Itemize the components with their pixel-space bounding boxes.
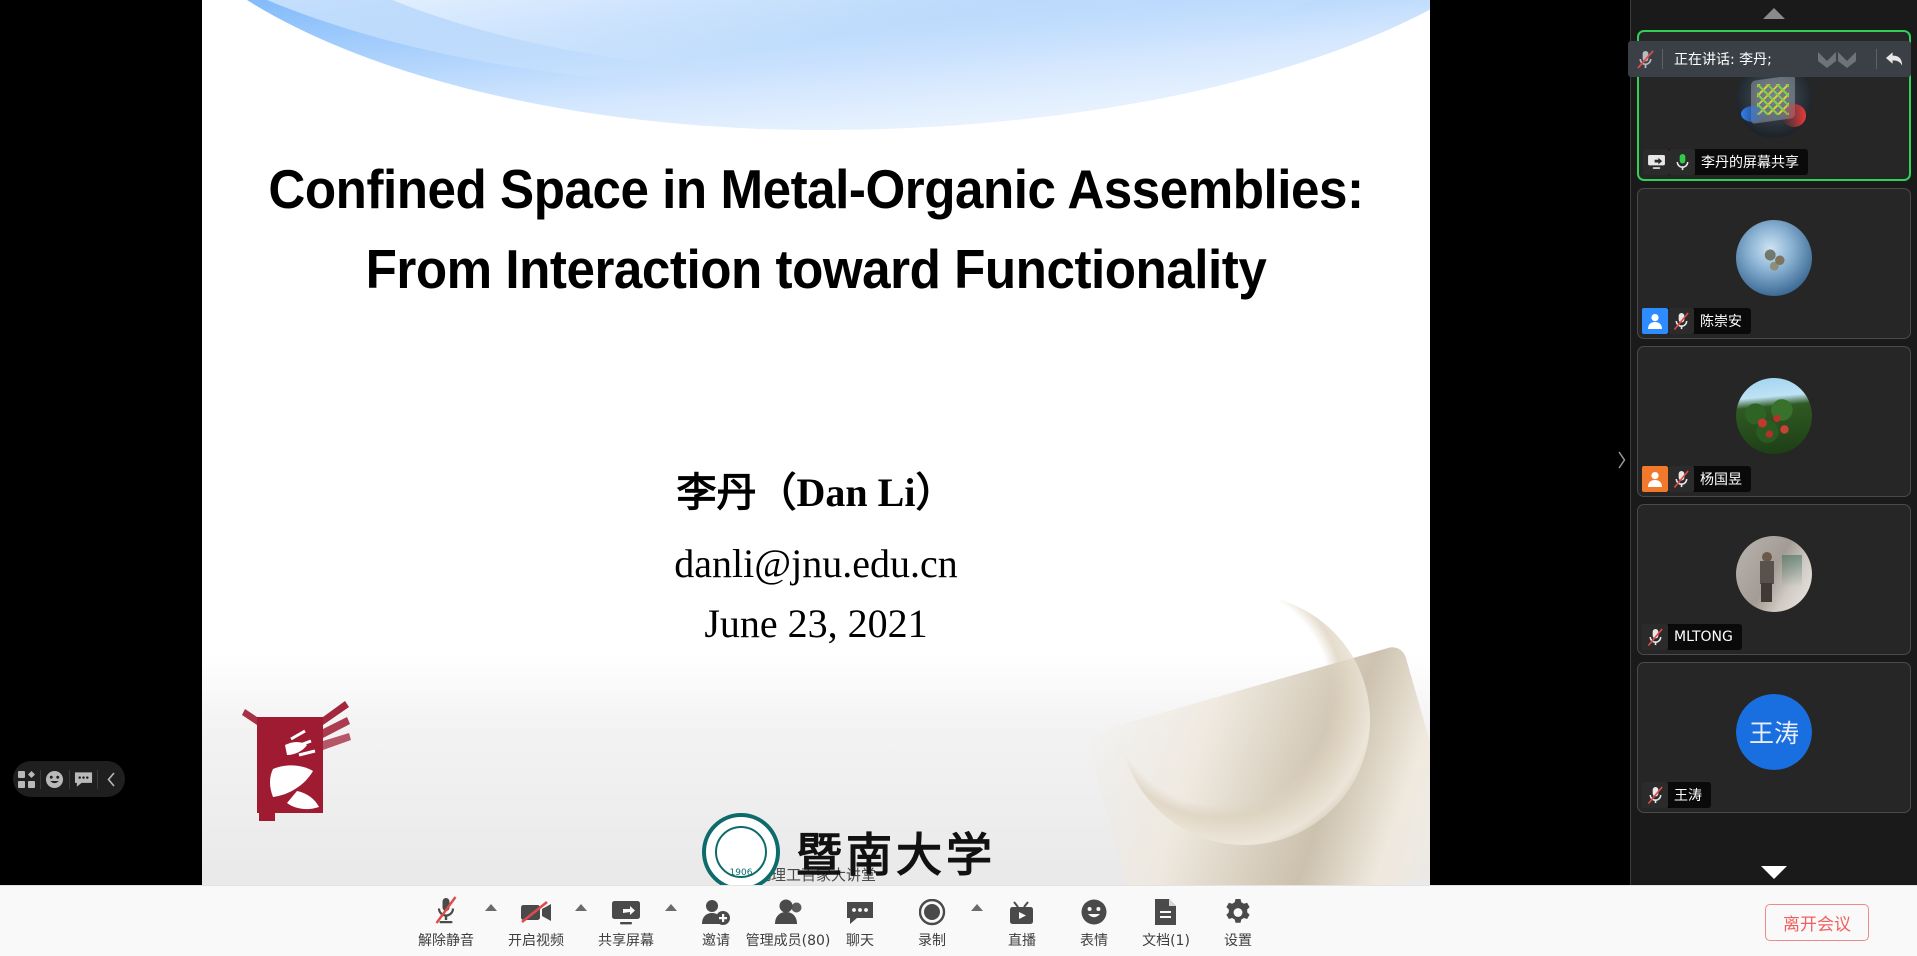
meeting-toolbar: 解除静音 开启视频 共享屏幕 xyxy=(0,885,1917,956)
participant-name: 王涛 xyxy=(1674,785,1702,805)
screen-share-icon xyxy=(612,892,641,926)
triangle-up-icon[interactable] xyxy=(1631,0,1917,26)
chevron-left-icon[interactable] xyxy=(98,761,125,797)
active-speaker-text: 正在讲话: 李丹; xyxy=(1674,49,1816,69)
jnu-seal-icon: 1906 xyxy=(702,813,780,885)
participant-thumbnail[interactable]: 陈崇安 xyxy=(1637,188,1911,339)
mic-muted-icon xyxy=(1628,49,1662,70)
avatar: 王涛 xyxy=(1736,694,1812,770)
caret-up-icon[interactable] xyxy=(572,886,590,950)
participants-icon xyxy=(774,892,802,926)
gear-icon xyxy=(1224,892,1252,926)
active-speaker-banner: 正在讲话: 李丹; xyxy=(1628,41,1911,77)
record-icon xyxy=(919,892,946,926)
participant-panel: 李丹的屏幕共享 陈崇安 xyxy=(1630,0,1917,885)
participant-nametag: 杨国昱 xyxy=(1642,466,1751,492)
participant-nametag: 陈崇安 xyxy=(1642,308,1751,334)
document-icon xyxy=(1155,892,1177,926)
presentation-slide: Confined Space in Metal-Organic Assembli… xyxy=(202,0,1430,885)
jnu-seal-year: 1906 xyxy=(706,868,776,878)
toolbar-button-label: 管理成员(80) xyxy=(746,930,831,950)
zoom-meeting-window: Confined Space in Metal-Organic Assembli… xyxy=(0,0,1917,956)
toolbar-button-label: 直播 xyxy=(1008,930,1036,950)
toolbar-button-label: 设置 xyxy=(1224,930,1252,950)
toolbar-button-label: 开启视频 xyxy=(508,930,564,950)
participant-name: 李丹的屏幕共享 xyxy=(1701,152,1799,172)
participant-name: MLTONG xyxy=(1674,629,1733,645)
participant-nametag: 李丹的屏幕共享 xyxy=(1643,149,1808,175)
toolbar-button-label: 解除静音 xyxy=(418,930,474,950)
toolbar-button-label: 文档(1) xyxy=(1142,930,1190,950)
participant-thumbnail[interactable]: MLTONG xyxy=(1637,504,1911,655)
avatar xyxy=(1736,536,1812,612)
participant-name: 杨国昱 xyxy=(1700,469,1742,489)
chat-bubble-icon xyxy=(846,892,875,926)
participant-thumbnail[interactable]: 王涛 王涛 xyxy=(1637,662,1911,813)
toolbar-button-chat-bubble[interactable]: 聊天 xyxy=(824,892,896,950)
mic-muted-icon xyxy=(1668,308,1694,334)
toolbar-button-label: 聊天 xyxy=(846,930,874,950)
toolbar-items: 解除静音 开启视频 共享屏幕 xyxy=(410,886,1274,956)
mic-muted-icon xyxy=(1642,624,1668,650)
leave-meeting-button[interactable]: 离开会议 xyxy=(1765,904,1869,941)
slide-email: danli@jnu.edu.cn xyxy=(202,540,1430,587)
avatar xyxy=(1736,378,1812,454)
toolbar-button-screen-share[interactable]: 共享屏幕 xyxy=(590,892,662,950)
toolbar-button-label: 邀请 xyxy=(702,930,730,950)
participant-thumbnail[interactable]: 杨国昱 xyxy=(1637,346,1911,497)
participant-thumbnail-list: 李丹的屏幕共享 陈崇安 xyxy=(1631,26,1917,859)
participant-nametag: 王涛 xyxy=(1642,782,1711,808)
apps-grid-icon[interactable] xyxy=(13,761,40,797)
slide-title-line-1: Confined Space in Metal-Organic Assembli… xyxy=(245,150,1387,230)
toolbar-button-participants[interactable]: 管理成员(80) xyxy=(752,892,824,950)
person-icon xyxy=(1642,466,1668,492)
toolbar-button-video-off[interactable]: 开启视频 xyxy=(500,892,572,950)
slide-footer-band: 北理工百家大讲堂 1906 暨南大学 JINAN UNIVERSITY xyxy=(202,655,1430,885)
toolbar-button-label: 共享屏幕 xyxy=(598,930,654,950)
slide-author: 李丹（Dan Li） xyxy=(202,460,1430,518)
avatar xyxy=(1736,220,1812,296)
chat-bubble-icon[interactable] xyxy=(70,761,97,797)
emoji-icon[interactable] xyxy=(41,761,68,797)
caret-up-icon[interactable] xyxy=(968,886,986,950)
back-arrow-icon[interactable] xyxy=(1877,51,1911,67)
shared-screen-stage: Confined Space in Metal-Organic Assembli… xyxy=(0,0,1630,885)
triangle-down-icon[interactable] xyxy=(1631,859,1917,885)
slide-title-line-2: From Interaction toward Functionality xyxy=(245,230,1387,310)
mic-muted-icon xyxy=(433,892,459,926)
toolbar-button-invite-person[interactable]: 邀请 xyxy=(680,892,752,950)
toolbar-button-label: 录制 xyxy=(918,930,946,950)
bit-lecture-logo xyxy=(237,685,363,865)
invite-person-icon xyxy=(702,892,731,926)
jnu-logo: 1906 暨南大学 JINAN UNIVERSITY xyxy=(702,813,996,885)
participant-nametag: MLTONG xyxy=(1642,624,1742,650)
toolbar-button-live-stream[interactable]: 直播 xyxy=(986,892,1058,950)
slide-title: Confined Space in Metal-Organic Assembli… xyxy=(245,150,1387,310)
toolbar-button-document[interactable]: 文档(1) xyxy=(1130,892,1202,950)
toolbar-button-label: 表情 xyxy=(1080,930,1108,950)
slide-header-decoration xyxy=(202,0,1430,130)
mic-muted-icon xyxy=(1668,466,1694,492)
audio-wave-icon xyxy=(1816,50,1868,68)
toolbar-button-gear[interactable]: 设置 xyxy=(1202,892,1274,950)
caret-up-icon[interactable] xyxy=(662,886,680,950)
floating-mini-toolbar[interactable] xyxy=(13,761,125,797)
mic-muted-icon xyxy=(1642,782,1668,808)
toolbar-button-record[interactable]: 录制 xyxy=(896,892,968,950)
caret-up-icon[interactable] xyxy=(482,886,500,950)
jnu-university-name: 暨南大学 xyxy=(796,819,996,885)
emoji-icon xyxy=(1081,892,1108,926)
participant-name: 陈崇安 xyxy=(1700,311,1742,331)
person-icon xyxy=(1642,308,1668,334)
toolbar-button-mic-muted[interactable]: 解除静音 xyxy=(410,892,482,950)
panel-collapse-handle[interactable] xyxy=(1612,440,1630,480)
mic-on-icon xyxy=(1669,149,1695,175)
screen-share-icon xyxy=(1643,149,1669,175)
toolbar-button-emoji[interactable]: 表情 xyxy=(1058,892,1130,950)
video-off-icon xyxy=(521,892,552,926)
live-stream-icon xyxy=(1010,892,1034,926)
